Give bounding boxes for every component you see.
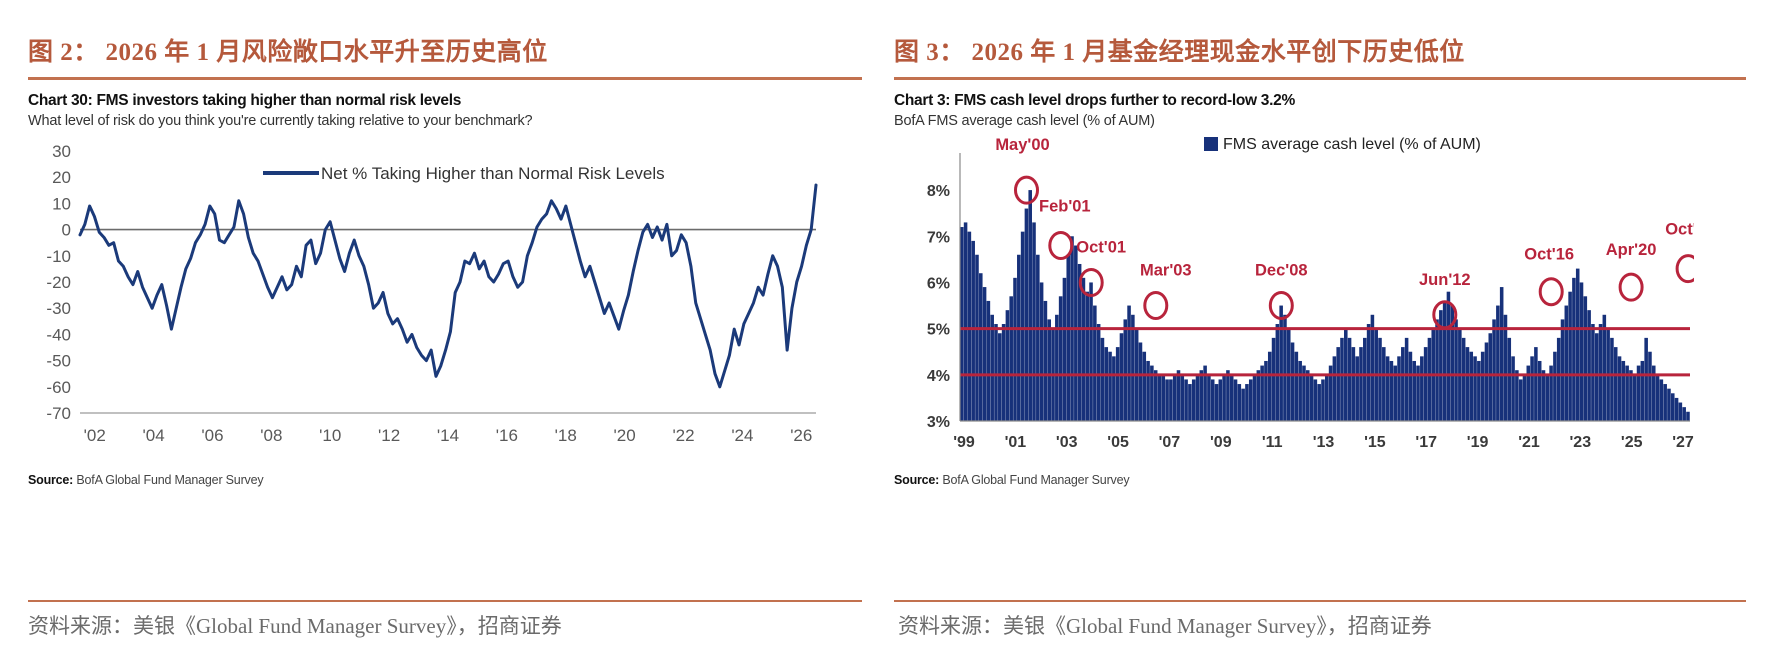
x-tick-label: '09: [1210, 434, 1232, 451]
chart-30-plot: 3020100-10-20-30-40-50-60-70Net % Taking…: [28, 137, 862, 467]
y-tick-label: 4%: [927, 368, 950, 385]
bar: [1565, 306, 1569, 421]
bar: [998, 333, 1002, 421]
figure-3-footer-rule: [894, 600, 1746, 603]
bar: [1519, 379, 1523, 421]
bar: [1044, 301, 1048, 421]
bar: [1557, 338, 1561, 421]
figure-2-title: 图 2： 2026 年 1 月风险敞口水平升至历史高位: [28, 36, 862, 70]
bar: [1082, 278, 1086, 421]
bar: [1230, 375, 1234, 421]
bar: [1675, 398, 1679, 421]
bar: [1074, 246, 1078, 421]
source-label: Source:: [28, 473, 73, 487]
bar: [1553, 352, 1557, 421]
bar: [1276, 324, 1280, 421]
bar: [1534, 347, 1538, 421]
bar: [1359, 347, 1363, 421]
y-tick-label: -10: [46, 247, 71, 266]
x-tick-label: '23: [1569, 434, 1591, 451]
annotation-label: Apr'20: [1606, 241, 1657, 259]
bar: [1006, 310, 1010, 421]
y-tick-label: -50: [46, 352, 71, 371]
bar: [1131, 315, 1135, 421]
annotation-label: May'00: [995, 137, 1049, 154]
x-tick-label: '12: [378, 426, 400, 445]
bar: [1283, 315, 1287, 421]
bar: [1245, 384, 1249, 421]
bar: [1196, 375, 1200, 421]
bar: [987, 301, 991, 421]
bar: [1028, 190, 1032, 421]
x-tick-label: '25: [1621, 434, 1643, 451]
x-tick-label: '99: [953, 434, 975, 451]
bar: [1428, 338, 1432, 421]
legend-label: Net % Taking Higher than Normal Risk Lev…: [321, 164, 665, 183]
bar: [1671, 393, 1675, 421]
bar: [1063, 278, 1067, 421]
bar: [1321, 379, 1325, 421]
bar: [990, 315, 994, 421]
bar: [1386, 356, 1390, 421]
bar: [1295, 352, 1299, 421]
x-tick-label: '17: [1415, 434, 1437, 451]
bar-series: [960, 190, 1690, 421]
line-series: [80, 185, 816, 387]
bar: [1352, 347, 1356, 421]
bar: [1679, 403, 1683, 421]
chart-3-plot: 3%4%5%6%7%8%FMS average cash level (% of…: [894, 137, 1746, 467]
bar: [1013, 278, 1017, 421]
x-tick-label: '04: [143, 426, 165, 445]
bar: [1629, 370, 1633, 421]
figure-3-title: 图 3： 2026 年 1 月基金经理现金水平创下历史低位: [894, 36, 1746, 70]
figure-3-panel: 图 3： 2026 年 1 月基金经理现金水平创下历史低位 Chart 3: F…: [884, 0, 1768, 648]
bar: [1492, 319, 1496, 421]
legend-swatch: [1204, 137, 1218, 151]
bar: [1169, 379, 1173, 421]
bar: [1154, 370, 1158, 421]
bar: [971, 241, 975, 421]
chart-30-source: Source: BofA Global Fund Manager Survey: [28, 473, 862, 487]
bar: [1477, 361, 1481, 421]
bar: [1112, 356, 1116, 421]
bar: [1447, 292, 1451, 421]
bar: [1466, 347, 1470, 421]
chart-3-title: Chart 3: FMS cash level drops further to…: [894, 92, 1746, 110]
bar: [1591, 324, 1595, 421]
x-tick-label: '22: [672, 426, 694, 445]
bar: [1143, 352, 1147, 421]
annotation-label: Feb'01: [1039, 198, 1091, 216]
bar: [1036, 255, 1040, 421]
bar: [1409, 352, 1413, 421]
bar: [1572, 278, 1576, 421]
bar: [1139, 342, 1143, 421]
bar: [1040, 282, 1044, 421]
annotation-circle: [1620, 274, 1642, 300]
bar: [1587, 310, 1591, 421]
bar: [1123, 319, 1127, 421]
y-tick-label: 3%: [927, 414, 950, 431]
bar: [1538, 361, 1542, 421]
figure-2-footer-rule: [28, 600, 862, 603]
bar: [1682, 407, 1686, 421]
y-tick-label: -70: [46, 404, 71, 423]
bar: [1584, 296, 1588, 421]
annotation-label: Oct'22: [1665, 221, 1694, 239]
bar: [1641, 361, 1645, 421]
bar: [1032, 222, 1036, 421]
bar: [1165, 379, 1169, 421]
bar: [1340, 338, 1344, 421]
bar: [1120, 333, 1124, 421]
annotation-label: Mar'03: [1140, 262, 1192, 280]
x-tick-label: '14: [437, 426, 459, 445]
bar: [1420, 356, 1424, 421]
figure-3-header: 图 3： 2026 年 1 月基金经理现金水平创下历史低位: [894, 36, 1746, 82]
bar: [1348, 338, 1352, 421]
bar: [1249, 379, 1253, 421]
y-tick-label: 8%: [927, 183, 950, 200]
source-text: BofA Global Fund Manager Survey: [939, 473, 1129, 487]
y-tick-label: -30: [46, 299, 71, 318]
bar: [1367, 324, 1371, 421]
bar: [1663, 384, 1667, 421]
chart-3-subtitle: BofA FMS average cash level (% of AUM): [894, 113, 1746, 129]
bar: [1222, 375, 1226, 421]
bar: [1184, 379, 1188, 421]
bar: [1181, 375, 1185, 421]
bar: [1546, 375, 1550, 421]
y-tick-label: 5%: [927, 322, 950, 339]
bar: [1568, 292, 1572, 421]
annotation-label: Oct'16: [1524, 246, 1574, 264]
bar: [1603, 315, 1607, 421]
bar: [1226, 370, 1230, 421]
bar: [1648, 352, 1652, 421]
bar: [1561, 319, 1565, 421]
bar: [1530, 356, 1534, 421]
bar: [1424, 347, 1428, 421]
y-tick-label: -60: [46, 378, 71, 397]
bar: [1241, 389, 1245, 421]
bar: [1021, 232, 1025, 421]
bar: [1595, 333, 1599, 421]
bar: [1279, 306, 1283, 421]
bar: [1488, 333, 1492, 421]
x-tick-label: '10: [319, 426, 341, 445]
x-tick-label: '11: [1262, 434, 1283, 451]
y-tick-label: -40: [46, 325, 71, 344]
bar: [1515, 370, 1519, 421]
bar: [1580, 282, 1584, 421]
bar: [1576, 269, 1580, 421]
chart-30-subtitle: What level of risk do you think you're c…: [28, 113, 862, 129]
chart-3-svg: 3%4%5%6%7%8%FMS average cash level (% of…: [894, 137, 1694, 467]
bar: [1158, 375, 1162, 421]
bar: [1412, 361, 1416, 421]
y-tick-label: 7%: [927, 229, 950, 246]
figure-2-panel: 图 2： 2026 年 1 月风险敞口水平升至历史高位 Chart 30: FM…: [0, 0, 884, 648]
x-tick-label: '02: [84, 426, 106, 445]
bar: [1017, 255, 1021, 421]
bar: [1610, 338, 1614, 421]
bar: [1257, 370, 1261, 421]
y-tick-label: 6%: [927, 275, 950, 292]
bar: [1253, 375, 1257, 421]
bar: [1200, 370, 1204, 421]
bar: [1093, 306, 1097, 421]
bar: [1401, 347, 1405, 421]
x-tick-label: '20: [614, 426, 636, 445]
bar: [1291, 342, 1295, 421]
bar: [1173, 375, 1177, 421]
annotation-circle: [1016, 177, 1038, 203]
bar: [1382, 347, 1386, 421]
chart-3-source: Source: BofA Global Fund Manager Survey: [894, 473, 1746, 487]
bar: [1325, 375, 1329, 421]
figure-3-footer-note: 资料来源：美银《Global Fund Manager Survey》，招商证券: [898, 610, 1746, 640]
bar: [1378, 338, 1382, 421]
bar: [1108, 352, 1112, 421]
x-tick-label: '01: [1005, 434, 1027, 451]
bar: [964, 222, 968, 421]
y-tick-label: 10: [52, 194, 71, 213]
bar: [1219, 379, 1223, 421]
bar: [1496, 306, 1500, 421]
bar: [1443, 301, 1447, 421]
bar: [1207, 375, 1211, 421]
bar: [1059, 296, 1063, 421]
bar: [1390, 361, 1394, 421]
bar: [1500, 287, 1504, 421]
bar: [1660, 379, 1664, 421]
x-tick-label: '15: [1364, 434, 1386, 451]
bar: [1009, 296, 1013, 421]
bar: [1055, 315, 1059, 421]
annotation-circle: [1050, 233, 1072, 259]
y-tick-label: 30: [52, 142, 71, 161]
bar: [975, 255, 979, 421]
bar: [1089, 282, 1093, 421]
figure-3-title-rule: [894, 77, 1746, 80]
bar: [1622, 361, 1626, 421]
x-tick-label: '03: [1056, 434, 1078, 451]
bar: [1306, 370, 1310, 421]
bar: [1272, 338, 1276, 421]
bar: [1397, 356, 1401, 421]
x-tick-label: '13: [1313, 434, 1335, 451]
source-label: Source:: [894, 473, 939, 487]
x-tick-label: '06: [201, 426, 223, 445]
bar: [1633, 375, 1637, 421]
bar: [1047, 319, 1051, 421]
bar: [1314, 379, 1318, 421]
bar: [1097, 324, 1101, 421]
bar: [1177, 370, 1181, 421]
bar: [1504, 315, 1508, 421]
bar: [1363, 338, 1367, 421]
bar: [1317, 384, 1321, 421]
bar: [1211, 379, 1215, 421]
bar: [994, 324, 998, 421]
x-tick-label: '08: [260, 426, 282, 445]
bar: [1473, 356, 1477, 421]
bar: [1454, 319, 1458, 421]
bar: [1268, 352, 1272, 421]
bar: [1298, 361, 1302, 421]
bar: [1127, 306, 1131, 421]
bar: [1101, 338, 1105, 421]
report-page: 图 2： 2026 年 1 月风险敞口水平升至历史高位 Chart 30: FM…: [0, 0, 1768, 648]
bar: [1481, 352, 1485, 421]
bar: [1104, 347, 1108, 421]
bar: [1116, 347, 1120, 421]
figure-2-header: 图 2： 2026 年 1 月风险敞口水平升至历史高位: [28, 36, 862, 82]
x-tick-label: '24: [731, 426, 753, 445]
bar: [1523, 375, 1527, 421]
x-tick-label: '16: [496, 426, 518, 445]
y-tick-label: 0: [62, 221, 71, 240]
bar: [1469, 352, 1473, 421]
bar: [1508, 338, 1512, 421]
bar: [983, 287, 987, 421]
bar: [1599, 324, 1603, 421]
chart-30-card: Chart 30: FMS investors taking higher th…: [28, 92, 862, 487]
bar: [1686, 412, 1690, 421]
bar: [1405, 338, 1409, 421]
figure-2-title-rule: [28, 77, 862, 80]
chart-3-card: Chart 3: FMS cash level drops further to…: [894, 92, 1746, 487]
annotation-label: Dec'08: [1255, 262, 1308, 280]
bar: [1511, 356, 1515, 421]
annotation-circle: [1677, 256, 1694, 282]
x-tick-label: '05: [1107, 434, 1129, 451]
x-tick-label: '21: [1518, 434, 1540, 451]
x-tick-label: '27: [1672, 434, 1694, 451]
y-tick-label: 20: [52, 168, 71, 187]
bar: [1656, 375, 1660, 421]
bar: [1644, 338, 1648, 421]
bar: [1002, 324, 1006, 421]
chart-30-title: Chart 30: FMS investors taking higher th…: [28, 92, 862, 110]
bar: [1162, 375, 1166, 421]
figure-2-footer-note: 资料来源：美银《Global Fund Manager Survey》，招商证券: [28, 610, 862, 640]
annotation-circle: [1540, 279, 1562, 305]
annotation-label: Oct'01: [1076, 239, 1126, 257]
bar: [1215, 384, 1219, 421]
x-tick-label: '07: [1159, 434, 1181, 451]
bar: [1435, 319, 1439, 421]
annotation-circle: [1145, 293, 1167, 319]
bar: [1025, 209, 1029, 421]
bar: [1336, 347, 1340, 421]
bar: [1238, 384, 1242, 421]
bar: [1234, 379, 1238, 421]
bar: [1264, 361, 1268, 421]
x-tick-label: '18: [555, 426, 577, 445]
bar: [1462, 338, 1466, 421]
bar: [1618, 356, 1622, 421]
legend-label: FMS average cash level (% of AUM): [1223, 137, 1481, 153]
bar: [1542, 370, 1546, 421]
y-tick-label: -20: [46, 273, 71, 292]
bar: [1371, 315, 1375, 421]
bar: [1614, 347, 1618, 421]
annotation-label: Jun'12: [1419, 271, 1471, 289]
bar: [1085, 292, 1089, 421]
x-tick-label: '26: [790, 426, 812, 445]
x-tick-label: '19: [1467, 434, 1489, 451]
bar: [1146, 361, 1150, 421]
bar: [1667, 389, 1671, 421]
bar: [1310, 375, 1314, 421]
source-text: BofA Global Fund Manager Survey: [73, 473, 263, 487]
bar: [968, 232, 972, 421]
bar: [1188, 384, 1192, 421]
bar: [1355, 356, 1359, 421]
bar: [1192, 379, 1196, 421]
bar: [979, 273, 983, 421]
bar: [1333, 356, 1337, 421]
chart-30-svg: 3020100-10-20-30-40-50-60-70Net % Taking…: [28, 137, 828, 467]
bar: [1485, 342, 1489, 421]
bar: [1066, 255, 1070, 421]
